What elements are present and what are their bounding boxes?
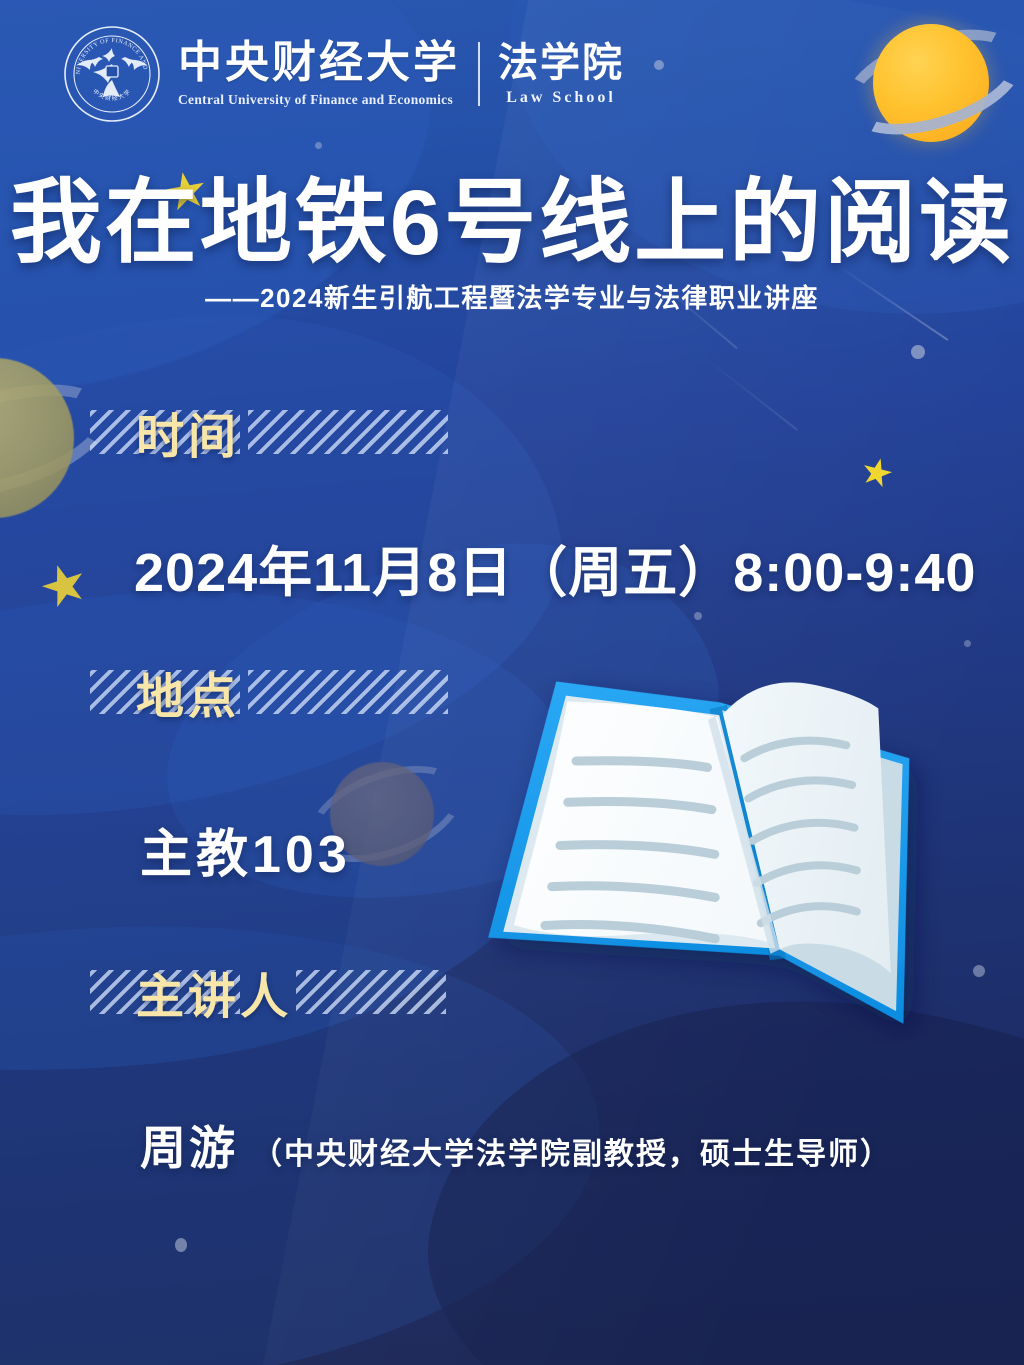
section-label-place: 地点	[136, 660, 240, 724]
decorative-dot	[654, 60, 664, 70]
hatch-decoration	[248, 670, 448, 714]
five-point-star-icon	[36, 558, 91, 613]
brand-header: CENTRAL UNIVERSITY OF FINANCE AND ECONOM…	[62, 24, 624, 124]
school-name-cn: 法学院	[498, 42, 624, 84]
speaker-credentials: （中央财经大学法学院副教授，硕士生导师）	[252, 1129, 892, 1173]
event-place-value: 主教103	[140, 812, 351, 887]
shooting-star-icon	[702, 355, 798, 430]
section-label-text: 时间	[136, 397, 240, 467]
hatch-decoration	[296, 970, 446, 1014]
speaker-name: 周游	[140, 1112, 238, 1178]
section-label-time: 时间	[136, 400, 240, 464]
poster-root: CENTRAL UNIVERSITY OF FINANCE AND ECONOM…	[0, 0, 1024, 1365]
university-seal-icon: CENTRAL UNIVERSITY OF FINANCE AND ECONOM…	[62, 24, 162, 124]
five-point-star-icon	[859, 455, 895, 491]
hatch-decoration	[248, 410, 448, 454]
section-label-speaker: 主讲人	[136, 960, 292, 1024]
university-name-en: Central University of Finance and Econom…	[178, 92, 460, 108]
wordmark-divider	[478, 42, 480, 106]
section-label-text: 地点	[136, 657, 240, 727]
event-time-value: 2024年11月8日（周五）8:00-9:40	[134, 528, 976, 607]
event-speaker-value: 周游 （中央财经大学法学院副教授，硕士生导师）	[140, 1112, 892, 1178]
university-wordmark: 中央财经大学 Central University of Finance and…	[178, 40, 624, 108]
section-label-text: 主讲人	[136, 957, 292, 1027]
decorative-dot	[964, 640, 971, 647]
open-book-icon	[406, 556, 1024, 1138]
poster-title: 我在地铁6号线上的阅读	[0, 148, 1024, 281]
school-name-en: Law School	[498, 89, 624, 107]
decorative-dot	[911, 345, 925, 359]
decorative-dot	[175, 1238, 187, 1252]
university-name-cn: 中央财经大学	[178, 40, 460, 86]
poster-subtitle: ——2024新生引航工程暨法学专业与法律职业讲座	[0, 278, 1024, 315]
